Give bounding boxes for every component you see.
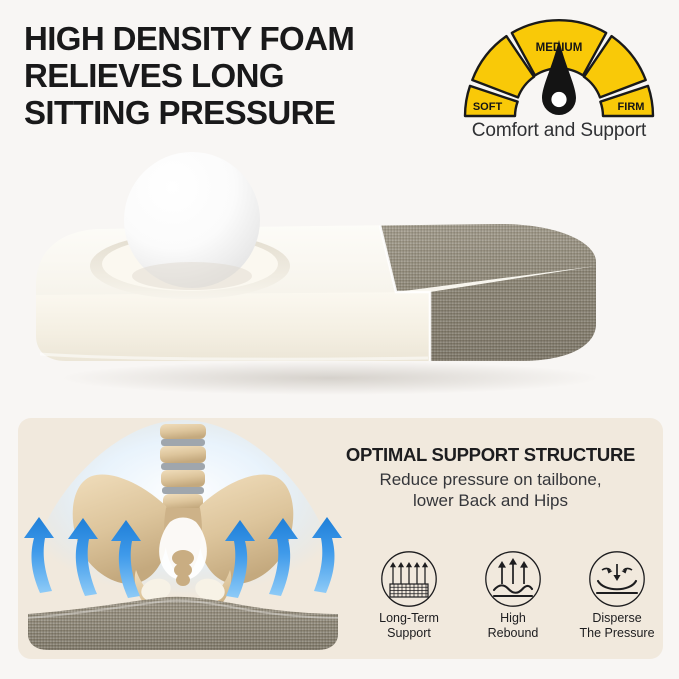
panel-heading-block: OPTIMAL SUPPORT STRUCTURE Reduce pressur… — [318, 444, 663, 511]
gauge-label-soft: SOFT — [473, 101, 503, 113]
feature-label-line: Support — [363, 626, 455, 641]
panel-subtitle: Reduce pressure on tailbone, lower Back … — [318, 469, 663, 511]
feature-label-line: Disperse — [571, 611, 663, 626]
feature-label-high-rebound: High Rebound — [467, 611, 559, 640]
feature-label-long-term-support: Long-Term Support — [363, 611, 455, 640]
disperse-arrows-icon — [588, 550, 646, 608]
gauge-caption: Comfort and Support — [443, 120, 675, 142]
feature-label-disperse-the-pressure: Disperse The Pressure — [571, 611, 663, 640]
gauge-graphic: SOFT MEDIUM FIRM — [443, 18, 675, 122]
gauge-dial-icon: SOFT MEDIUM FIRM — [443, 18, 675, 122]
pelvis-pressure-illustration — [18, 418, 348, 659]
product-photo — [0, 140, 679, 395]
firmness-gauge: SOFT MEDIUM FIRM Comfort and Support — [443, 18, 675, 142]
headline-line-2: RELIEVES LONG — [24, 57, 454, 94]
headline-line-3: SITTING PRESSURE — [24, 94, 454, 131]
feature-long-term-support: Long-Term Support — [363, 550, 455, 640]
panel-subtitle-line-2: lower Back and Hips — [318, 490, 663, 511]
panel-subtitle-line-1: Reduce pressure on tailbone, — [318, 469, 663, 490]
gauge-label-firm: FIRM — [618, 101, 645, 113]
pelvis-diagram-icon — [18, 418, 348, 659]
feature-label-line: Long-Term — [363, 611, 455, 626]
gauge-label-medium: MEDIUM — [536, 42, 583, 54]
feature-label-line: The Pressure — [571, 626, 663, 641]
feature-disperse-the-pressure: Disperse The Pressure — [571, 550, 663, 640]
foam-cushion-illustration — [0, 140, 679, 395]
support-structure-panel: OPTIMAL SUPPORT STRUCTURE Reduce pressur… — [18, 418, 663, 659]
feature-label-line: High — [467, 611, 559, 626]
headline-line-1: HIGH DENSITY FOAM — [24, 20, 454, 57]
grid-up-arrows-icon — [380, 550, 438, 608]
feature-label-line: Rebound — [467, 626, 559, 641]
page-title: HIGH DENSITY FOAM RELIEVES LONG SITTING … — [24, 20, 454, 131]
feature-high-rebound: High Rebound — [467, 550, 559, 640]
wave-up-arrows-icon — [484, 550, 542, 608]
feature-badge-list: Long-Term Support — [363, 550, 663, 640]
panel-title: OPTIMAL SUPPORT STRUCTURE — [318, 444, 663, 466]
